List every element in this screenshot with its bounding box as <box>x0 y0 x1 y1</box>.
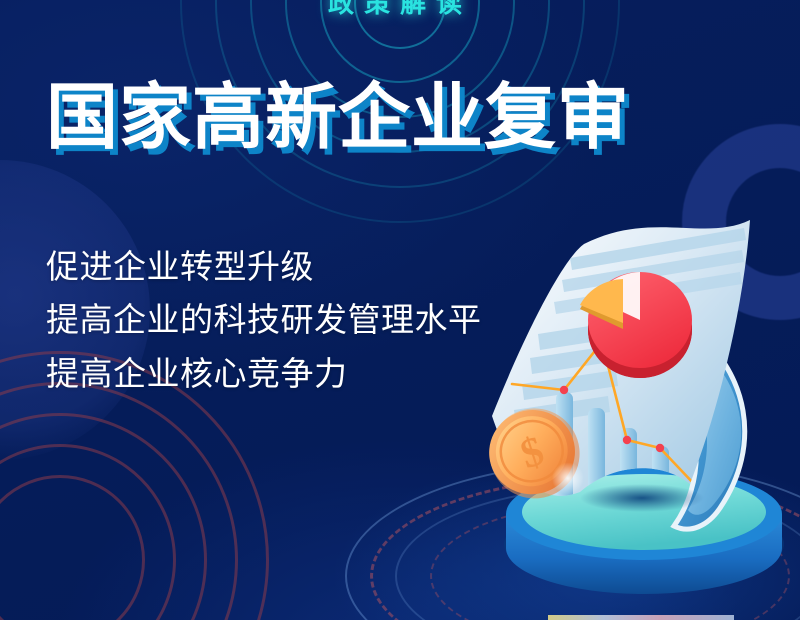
bottom-cutoff-strip <box>548 615 734 620</box>
paper-drop-shadow <box>580 484 704 512</box>
subtitle-line-1: 促进企业转型升级 <box>46 240 482 293</box>
subtitle-line-3: 提高企业核心竞争力 <box>46 347 482 400</box>
hero-illustration: $ <box>452 196 800 620</box>
subtitle-list: 促进企业转型升级 提高企业的科技研发管理水平 提高企业核心竞争力 <box>46 240 482 400</box>
top-cutoff-caption: 政策解读 <box>0 0 800 20</box>
page-title: 国家高新企业复审 <box>46 82 630 154</box>
poster-root: 政策解读 国家高新企业复审 促进企业转型升级 提高企业的科技研发管理水平 提高企… <box>0 0 800 620</box>
subtitle-line-2: 提高企业的科技研发管理水平 <box>46 293 482 346</box>
